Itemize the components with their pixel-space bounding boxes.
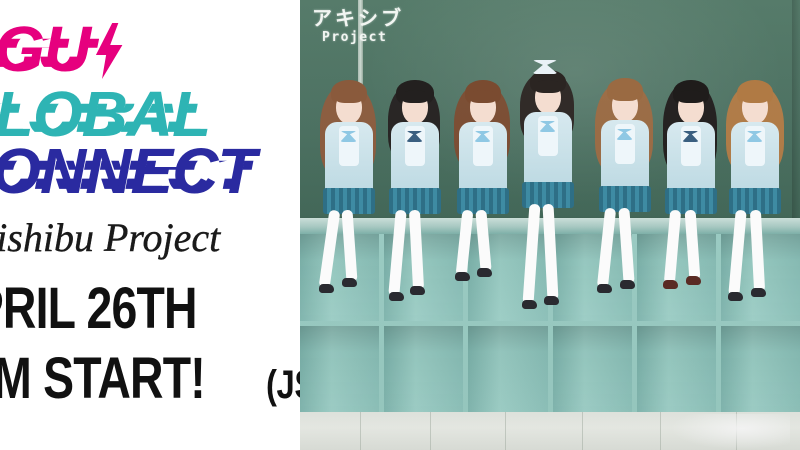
shoe xyxy=(620,280,635,289)
headline-connect-glitch: CONNECT CONNECT CONNECT xyxy=(0,139,255,203)
event-date: APRIL 26TH xyxy=(0,280,197,338)
shoe xyxy=(319,284,334,293)
cubby-cell xyxy=(637,326,721,412)
fringe xyxy=(677,90,705,103)
fringe xyxy=(741,90,769,103)
headline-agu-glitch: AGU AGU AGU xyxy=(0,17,90,81)
event-timezone: (JST) xyxy=(266,363,300,408)
sunlight-patch xyxy=(670,414,790,450)
cubby-cell xyxy=(468,326,552,412)
tile-seam xyxy=(360,412,361,450)
shoe xyxy=(522,300,537,309)
promo-banner: AGU AGU AGU GLOBAL GLOBAL GLOBAL CONNECT… xyxy=(0,0,800,450)
tile-seam xyxy=(582,412,583,450)
tile-seam xyxy=(660,412,661,450)
shoe xyxy=(477,268,492,277)
torso xyxy=(391,122,439,196)
subtitle-akishibu-project: Akishibu Project xyxy=(0,214,220,261)
headline-line-connect: CONNECT CONNECT CONNECT xyxy=(0,139,255,203)
shoe xyxy=(751,288,766,297)
headline-connect-text: CONNECT xyxy=(0,135,255,207)
tile-seam xyxy=(505,412,506,450)
shoe xyxy=(544,296,559,305)
tiled-floor xyxy=(300,412,800,450)
cubby-cell xyxy=(637,234,721,326)
lightning-bolt-icon xyxy=(96,23,123,79)
shoe xyxy=(455,272,470,281)
hair-bow-icon xyxy=(532,60,558,74)
shoe xyxy=(389,292,404,301)
shoe xyxy=(410,286,425,295)
torso xyxy=(731,122,779,196)
cubby-cell xyxy=(300,326,384,412)
cubby-cell xyxy=(721,326,800,412)
torso xyxy=(524,112,572,190)
torso xyxy=(325,122,373,196)
torso xyxy=(667,122,715,196)
event-time-main: 7PM START! xyxy=(0,345,205,412)
torso xyxy=(459,122,507,196)
fringe xyxy=(534,80,562,93)
fringe xyxy=(469,90,497,103)
shoe xyxy=(663,280,678,289)
fringe xyxy=(401,90,429,103)
group-photo: アキシブ Project xyxy=(300,0,800,450)
cubby-row-lower xyxy=(300,326,800,412)
cubby-cell xyxy=(384,326,468,412)
text-panel: AGU AGU AGU GLOBAL GLOBAL GLOBAL CONNECT… xyxy=(0,0,300,450)
shoe xyxy=(342,278,357,287)
shoe xyxy=(686,276,701,285)
fringe xyxy=(335,90,363,103)
shoe xyxy=(597,284,612,293)
headline-line-agu: AGU AGU AGU xyxy=(0,17,123,81)
cubby-cell xyxy=(553,326,637,412)
torso xyxy=(601,120,649,194)
headline-agu-text: AGU xyxy=(0,13,90,85)
tile-seam xyxy=(430,412,431,450)
shoe xyxy=(728,292,743,301)
event-time: 7PM START!(JST) xyxy=(0,345,300,412)
fringe xyxy=(611,88,639,101)
